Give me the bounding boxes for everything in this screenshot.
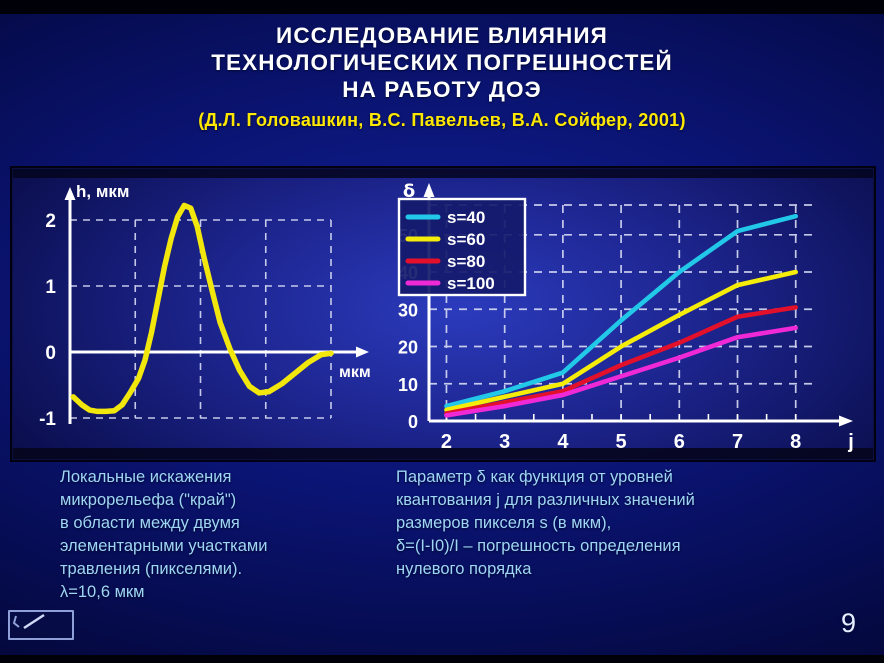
title-authors: (Д.Л. Головашкин, В.С. Павельев, В.А. Со…	[0, 109, 884, 131]
y-tick-label: 20	[398, 338, 418, 358]
microrelief-plot: 210-1h, мкммкм	[39, 182, 371, 430]
pen-rectangle-icon[interactable]	[8, 610, 74, 640]
figures-panel: 210-1h, мкммкм 010203040502345678δjs=40s…	[12, 168, 874, 460]
caption-left-line-0: Локальные искажения	[60, 466, 390, 489]
x-tick-label: 3	[499, 431, 510, 453]
y-tick-label: 10	[398, 375, 418, 395]
caption-left-line-3: элементарными участками	[60, 535, 390, 558]
caption-right-line-0: Параметр δ как функция от уровней	[396, 466, 846, 489]
x-axis-arrow	[839, 416, 853, 427]
captions-area: Локальные искажения микрорельефа ("край"…	[0, 466, 884, 616]
slide-title-block: ИССЛЕДОВАНИЕ ВЛИЯНИЯ ТЕХНОЛОГИЧЕСКИХ ПОГ…	[0, 22, 884, 131]
chart-delta-vs-j: 010203040502345678δjs=40s=60s=80s=100	[381, 169, 873, 459]
caption-left-line-1: микрорельефа ("край")	[60, 489, 390, 512]
legend-label-s-100: s=100	[447, 274, 495, 293]
pen-glyph-icon	[10, 612, 68, 634]
delta-plot: 010203040502345678δjs=40s=60s=80s=100	[398, 181, 854, 453]
y-axis-arrow	[65, 187, 76, 200]
title-line-1: ИССЛЕДОВАНИЕ ВЛИЯНИЯ	[0, 22, 884, 49]
caption-left-line-4: травления (пикселями).	[60, 558, 390, 581]
x-axis-title: j	[847, 431, 854, 453]
caption-left-line-2: в области между двумя	[60, 512, 390, 535]
legend-label-s-80: s=80	[447, 252, 485, 271]
caption-right-line-1: квантования j для различных значений	[396, 489, 846, 512]
caption-right-line-4: нулевого порядка	[396, 558, 846, 581]
caption-left-line-5: λ=10,6 мкм	[60, 581, 390, 604]
y-tick-label: 2	[45, 211, 56, 232]
microrelief-chart-svg: 210-1h, мкммкм	[13, 169, 381, 459]
y-tick-label: 30	[398, 300, 418, 320]
x-tick-label: 8	[790, 431, 801, 453]
x-tick-label: 6	[674, 431, 685, 453]
y-axis-arrow	[424, 183, 435, 197]
x-tick-label: 5	[616, 431, 627, 453]
page-number: 9	[841, 608, 856, 639]
x-axis-arrow	[356, 347, 369, 358]
legend-label-s-40: s=40	[447, 208, 485, 227]
caption-right-line-2: размеров пикселя s (в мкм),	[396, 512, 846, 535]
y-tick-label: 0	[45, 343, 56, 364]
title-line-2: ТЕХНОЛОГИЧЕСКИХ ПОГРЕШНОСТЕЙ	[0, 49, 884, 76]
x-tick-label: 4	[557, 431, 569, 453]
series-microrelief	[73, 205, 331, 411]
presentation-slide: ИССЛЕДОВАНИЕ ВЛИЯНИЯ ТЕХНОЛОГИЧЕСКИХ ПОГ…	[0, 0, 884, 663]
x-tick-label: 2	[441, 431, 452, 453]
x-axis-title: мкм	[339, 364, 371, 381]
x-tick-label: 7	[732, 431, 743, 453]
y-tick-label: -1	[39, 409, 56, 430]
caption-left: Локальные искажения микрорельефа ("край"…	[60, 466, 390, 604]
title-line-3: НА РАБОТУ ДОЭ	[0, 76, 884, 103]
chart-microrelief-profile: 210-1h, мкммкм	[13, 169, 381, 459]
delta-chart-svg: 010203040502345678δjs=40s=60s=80s=100	[381, 169, 873, 459]
y-axis-title: h, мкм	[76, 182, 130, 201]
y-tick-label: 0	[408, 412, 418, 432]
caption-right-line-3: δ=(I-I0)/I – погрешность определения	[396, 535, 846, 558]
legend-label-s-60: s=60	[447, 230, 485, 249]
y-tick-label: 1	[45, 277, 56, 298]
caption-right: Параметр δ как функция от уровней кванто…	[396, 466, 846, 581]
